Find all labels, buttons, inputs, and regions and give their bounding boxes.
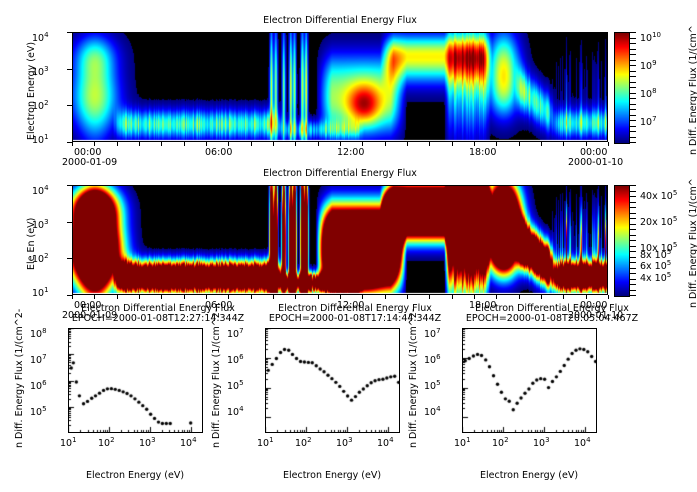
axis-tick: [273, 295, 274, 299]
axis-tick: [67, 185, 72, 186]
colorbar-tick: [630, 71, 636, 72]
axis-tick: [385, 295, 386, 299]
spectrum-2-subtitle: EPOCH=2000-01-08T17:14:44.344Z: [243, 313, 467, 324]
spectrum-2-frame: [265, 328, 400, 433]
xdate-top-right: 2000-01-10: [568, 157, 623, 168]
colorbar-tick: [630, 137, 636, 138]
colorbar-tick: [630, 196, 636, 197]
axis-tick: [94, 295, 95, 299]
spectrum-3-subtitle: EPOCH=2000-01-08T20:05:04.467Z: [440, 313, 664, 324]
axis-tick: [251, 295, 252, 299]
axis-tick: [251, 142, 252, 146]
axis-tick: [452, 142, 453, 146]
spectrum-1-xtick-2: 103: [139, 438, 156, 449]
colorbar-tick: [630, 54, 636, 55]
spectrogram-top-frame: [72, 32, 608, 142]
spectrum-3-xtick-1: 102: [492, 438, 509, 449]
axis-tick: [318, 295, 319, 299]
colorbar-tick: [630, 279, 636, 280]
axis-tick: [362, 295, 363, 299]
spectrum-2-xtick-0: 101: [257, 438, 274, 449]
axis-tick: [67, 105, 72, 106]
spectrum-1-ytick-1: 107: [30, 355, 47, 366]
ytick-top-1: 103: [32, 67, 49, 78]
spectrum-3-xtick-2: 103: [533, 438, 550, 449]
axis-tick: [117, 295, 118, 299]
axis-tick: [362, 142, 363, 146]
colorbar-tick: [630, 93, 636, 94]
axis-tick: [117, 142, 118, 146]
axis-tick: [139, 142, 140, 146]
colorbar-tick: [630, 82, 636, 83]
cbtick-bot-5: 4x 105: [640, 273, 671, 284]
axis-tick: [586, 295, 587, 299]
spectrogram-bottom-frame: [72, 185, 608, 295]
spectrum-2-xtick-2: 103: [336, 438, 353, 449]
axis-tick: [385, 142, 386, 146]
spectrum-1-xlabel: Electron Energy (eV): [86, 470, 184, 481]
axis-tick: [474, 142, 475, 146]
axis-tick: [295, 142, 296, 146]
axis-tick: [474, 295, 475, 299]
colorbar-tick: [630, 120, 636, 121]
spectrogram-bottom-title: Electron Differential Energy Flux: [72, 168, 608, 179]
spectrogram-top-title: Electron Differential Energy Flux: [72, 15, 608, 26]
spectrum-2-xlabel: Electron Energy (eV): [283, 470, 381, 481]
spectrum-2-ytick-0: 107: [227, 329, 244, 340]
axis-tick: [340, 142, 341, 146]
colorbar-tick: [630, 185, 636, 186]
spectrum-2-ylabel: n Diff. Energy Flux (1/(cm^2-: [211, 309, 222, 448]
spectrum-1-ytick-0: 108: [30, 329, 47, 340]
spectrum-2-ytick-2: 105: [227, 381, 244, 392]
ytick-top-0: 104: [32, 33, 49, 44]
colorbar-tick: [630, 284, 636, 285]
colorbar-top-label: n Diff. Energy Flux (1/(cm^: [688, 25, 697, 155]
axis-tick: [541, 295, 542, 299]
axis-tick: [429, 295, 430, 299]
colorbar-top: [614, 32, 630, 144]
axis-tick: [563, 295, 564, 299]
axis-tick: [67, 32, 72, 33]
axis-tick: [139, 295, 140, 299]
axis-tick: [161, 142, 162, 146]
ytick-bot-1: 103: [32, 220, 49, 231]
axis-tick: [72, 142, 73, 146]
spectrum-1-xtick-1: 102: [98, 438, 115, 449]
axis-tick: [228, 142, 229, 146]
axis-tick: [67, 222, 72, 223]
axis-tick: [228, 295, 229, 299]
cbtick-top-2: 108: [640, 89, 657, 100]
colorbar-tick: [630, 268, 636, 269]
colorbar-tick: [630, 235, 636, 236]
ytick-top-2: 102: [32, 101, 49, 112]
spectrum-1-ylabel: n Diff. Energy Flux (1/(cm^2-: [14, 309, 25, 448]
axis-tick: [563, 142, 564, 146]
colorbar-tick: [630, 218, 636, 219]
xtick-top-1: 06:00: [205, 147, 232, 158]
axis-tick: [429, 142, 430, 146]
spectrum-3-ylabel: n Diff. Energy Flux (1/(cm^2-: [408, 309, 419, 448]
colorbar-tick: [630, 207, 636, 208]
axis-tick: [72, 295, 73, 299]
colorbar-tick: [630, 191, 636, 192]
colorbar-tick: [630, 38, 636, 39]
axis-tick: [452, 295, 453, 299]
axis-tick: [608, 295, 609, 299]
colorbar-bottom-label: n Diff. Energy Flux (1/(cm^: [688, 178, 697, 308]
colorbar-tick: [630, 229, 636, 230]
spectrum-3-ytick-3: 104: [424, 407, 441, 418]
ytick-top-3: 101: [32, 135, 49, 146]
spectrum-2-ytick-1: 106: [227, 355, 244, 366]
colorbar-tick: [630, 295, 636, 296]
colorbar-tick: [630, 109, 636, 110]
axis-tick: [67, 258, 72, 259]
spectrum-1-subtitle: EPOCH=2000-01-08T12:27:14.344Z: [46, 313, 270, 324]
axis-tick: [67, 69, 72, 70]
spectrum-1-frame: [68, 328, 203, 433]
colorbar-bottom: [614, 185, 630, 297]
axis-tick: [184, 295, 185, 299]
colorbar-tick: [630, 262, 636, 263]
ytick-bot-3: 101: [32, 288, 49, 299]
colorbar-tick: [630, 126, 636, 127]
axis-tick: [340, 295, 341, 299]
cbtick-bot-1: 20x 105: [640, 217, 677, 228]
axis-tick: [407, 142, 408, 146]
colorbar-tick: [630, 213, 636, 214]
colorbar-tick: [630, 49, 636, 50]
xdate-top-left: 2000-01-09: [62, 157, 117, 168]
spectrogram-top-ylabel: Electron Energy (eV): [26, 42, 37, 140]
colorbar-tick: [630, 76, 636, 77]
colorbar-tick: [630, 251, 636, 252]
axis-tick: [318, 142, 319, 146]
axis-tick: [94, 142, 95, 146]
axis-tick: [206, 142, 207, 146]
colorbar-tick: [630, 273, 636, 274]
cbtick-top-0: 1010: [640, 33, 661, 44]
cbtick-top-1: 109: [640, 61, 657, 72]
colorbar-tick: [630, 43, 636, 44]
axis-tick: [519, 142, 520, 146]
colorbar-tick: [630, 246, 636, 247]
spectrum-1-ytick-3: 105: [30, 407, 47, 418]
colorbar-tick: [630, 290, 636, 291]
axis-tick: [541, 142, 542, 146]
axis-tick: [295, 295, 296, 299]
colorbar-tick: [630, 104, 636, 105]
colorbar-tick: [630, 60, 636, 61]
xtick-top-3: 18:00: [469, 147, 496, 158]
colorbar-tick: [630, 131, 636, 132]
colorbar-tick: [630, 224, 636, 225]
axis-tick: [496, 142, 497, 146]
colorbar-tick: [630, 65, 636, 66]
spectrum-3-ytick-1: 106: [424, 355, 441, 366]
axis-tick: [161, 295, 162, 299]
spectrum-1-ytick-2: 106: [30, 381, 47, 392]
colorbar-tick: [630, 115, 636, 116]
spectrum-3-xlabel: Electron Energy (eV): [480, 470, 578, 481]
cbtick-top-3: 107: [640, 117, 657, 128]
axis-tick: [184, 142, 185, 146]
axis-tick: [496, 295, 497, 299]
axis-tick: [608, 142, 609, 146]
spectrum-1-xtick-3: 104: [180, 438, 197, 449]
spectrum-3-xtick-3: 104: [574, 438, 591, 449]
axis-tick: [586, 142, 587, 146]
colorbar-tick: [630, 202, 636, 203]
ytick-bot-0: 104: [32, 186, 49, 197]
spectrum-1-xtick-0: 101: [60, 438, 77, 449]
axis-tick: [519, 295, 520, 299]
axis-tick: [407, 295, 408, 299]
cbtick-bot-0: 40x 105: [640, 191, 677, 202]
spectrum-2-xtick-3: 104: [377, 438, 394, 449]
spectrum-2-ytick-3: 104: [227, 407, 244, 418]
xtick-top-2: 12:00: [337, 147, 364, 158]
spectrum-3-ytick-2: 105: [424, 381, 441, 392]
spectrum-2-xtick-1: 102: [295, 438, 312, 449]
spectrum-3-frame: [462, 328, 597, 433]
colorbar-tick: [630, 240, 636, 241]
colorbar-tick: [630, 257, 636, 258]
colorbar-tick: [630, 98, 636, 99]
axis-tick: [206, 295, 207, 299]
spectrum-3-xtick-0: 101: [454, 438, 471, 449]
colorbar-tick: [630, 32, 636, 33]
colorbar-tick: [630, 142, 636, 143]
colorbar-tick: [630, 87, 636, 88]
spectrum-3-ytick-0: 107: [424, 329, 441, 340]
axis-tick: [273, 142, 274, 146]
ytick-bot-2: 102: [32, 254, 49, 265]
